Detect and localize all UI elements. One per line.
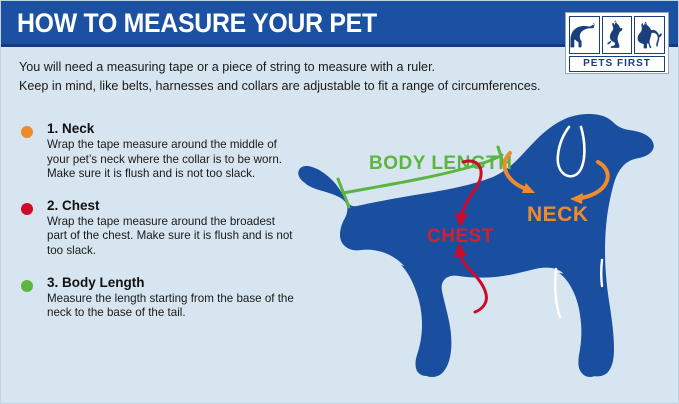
step-body-line: Make sure it is flush and is not too sla… [47,167,301,182]
step-title-neck: 1. Neck [47,121,301,136]
step-body-neck: Wrap the tape measure around the middle … [47,138,301,182]
step-item-neck: 1. Neck Wrap the tape measure around the… [19,121,301,182]
neck-label: NECK [527,203,589,226]
intro-line-2: Keep in mind, like belts, harnesses and … [19,77,579,96]
chest-label: CHEST [427,226,494,247]
step-body-line: Wrap the tape measure around the broades… [47,215,301,230]
step-body-line: your pet’s neck where the collar is to b… [47,153,301,168]
step-title-chest: 2. Chest [47,198,301,213]
dog-standing-icon [569,16,600,54]
page-title: HOW TO MEASURE YOUR PET [17,8,377,39]
dog-sitting-begging-icon [602,16,633,54]
brand-logo: PETS FIRST [565,12,669,74]
step-body-line: part of the chest. Make sure it is flush… [47,229,301,244]
intro-line-1: You will need a measuring tape or a piec… [19,58,579,77]
body-length-label: BODY LENGTH [369,153,512,174]
bullet-red-icon [21,203,33,215]
dog-measurement-diagram: BODY LENGTH NECK CHEST [297,105,679,404]
dog-sitting-icon [634,16,665,54]
step-item-chest: 2. Chest Wrap the tape measure around th… [19,198,301,259]
bullet-orange-icon [21,126,33,138]
step-body-line: neck to the base of the tail. [47,306,301,321]
pet-measurement-infographic: HOW TO MEASURE YOUR PET [0,0,679,404]
measurement-steps-list: 1. Neck Wrap the tape measure around the… [19,121,301,337]
step-body-line: Wrap the tape measure around the middle … [47,138,301,153]
bullet-green-icon [21,280,33,292]
step-body-line: too slack. [47,244,301,259]
logo-wordmark: PETS FIRST [569,56,665,72]
step-body-chest: Wrap the tape measure around the broades… [47,215,301,259]
logo-frames [569,16,665,54]
step-item-body-length: 3. Body Length Measure the length starti… [19,275,301,321]
step-title-body-length: 3. Body Length [47,275,301,290]
step-body-body-length: Measure the length starting from the bas… [47,292,301,321]
intro-text: You will need a measuring tape or a piec… [19,58,579,96]
step-body-line: Measure the length starting from the bas… [47,292,301,307]
